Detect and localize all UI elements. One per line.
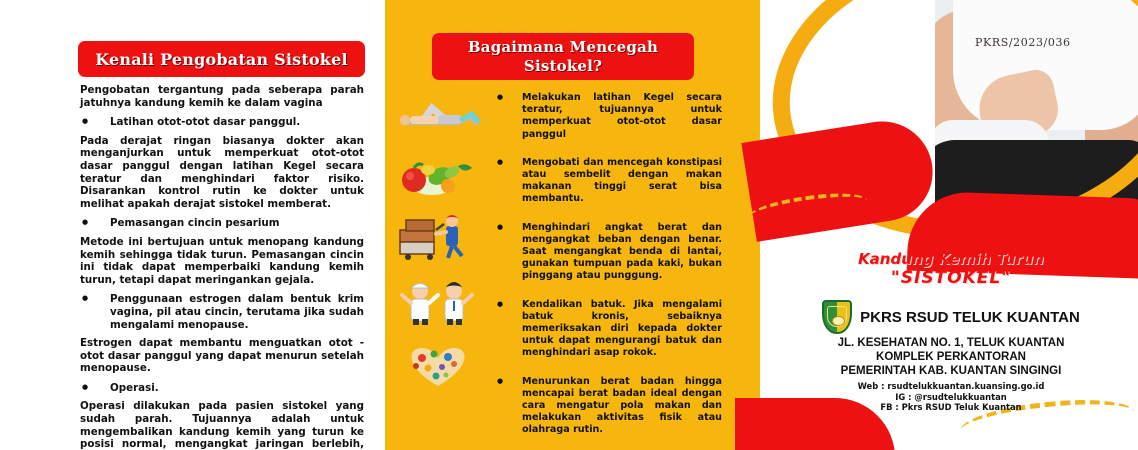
left-item-body-3: Estrogen dapat membantu menguatkan otot … (80, 337, 364, 375)
list-item: Penggunaan estrogen dalam bentuk krim va… (80, 293, 364, 331)
logo-emblem (832, 316, 845, 326)
address-line: PEMERINTAH KAB. KUANTAN SINGINGI (786, 364, 1116, 378)
list-item: Pemasangan cincin pesarium (80, 217, 364, 230)
contact-facebook: FB : Pkrs RSUD Teluk Kuantan (786, 402, 1116, 413)
hospital-logo-icon (822, 300, 852, 334)
address-line: JL. KESEHATAN NO. 1, TELUK KUANTAN (786, 336, 1116, 350)
address-line: KOMPLEK PERKANTORAN (786, 350, 1116, 364)
brochure-page: Kenali Pengobatan Sistokel Pengobatan te… (0, 0, 1138, 450)
cover-title: Kandung Kemih Turun "SISTOKEL" (786, 250, 1116, 288)
organization-row: PKRS RSUD TELUK KUANTAN (786, 300, 1116, 334)
list-item: Operasi. (80, 382, 364, 395)
publication-code: PKRS/2023/036 (975, 36, 1071, 49)
left-item-list-3: Penggunaan estrogen dalam bentuk krim va… (80, 293, 364, 331)
tips-ul: Melakukan latihan Kegel secara teratur, … (497, 92, 722, 437)
left-item-list-1: Latihan otot-otot dasar panggul. (80, 116, 364, 129)
vegetables-icon (392, 150, 484, 200)
list-item: Latihan otot-otot dasar panggul. (80, 116, 364, 129)
cover-title-line-1: Kandung Kemih Turun (858, 250, 1044, 268)
contact-instagram: IG : @rsudtelukkuantan (786, 392, 1116, 403)
healthy-lifestyle-icon (392, 342, 484, 392)
list-item: Kendalikan batuk. Jika mengalami batuk k… (497, 299, 722, 360)
left-intro-text: Pengobatan tergantung pada seberapa para… (80, 84, 364, 109)
organization-name: PKRS RSUD TELUK KUANTAN (860, 309, 1080, 326)
middle-panel-header: Bagaimana Mencegah Sistokel? (432, 33, 694, 80)
list-item: Menurunkan berat badan hingga mencapai b… (497, 376, 722, 437)
left-panel-header: Kenali Pengobatan Sistokel (78, 41, 365, 77)
lifting-boxes-icon (392, 212, 484, 262)
list-item: Melakukan latihan Kegel secara teratur, … (497, 92, 722, 141)
contact-block: Web : rsudtelukkuantan.kuansing.go.id IG… (786, 381, 1116, 413)
left-item-body-2: Metode ini bertujuan untuk menopang kand… (80, 236, 364, 286)
middle-icon-column (392, 92, 484, 404)
left-panel-body: Pengobatan tergantung pada seberapa para… (80, 84, 364, 450)
prevention-tips-list: Melakukan latihan Kegel secara teratur, … (497, 92, 722, 450)
panel-left: Kenali Pengobatan Sistokel Pengobatan te… (0, 0, 385, 450)
middle-header-line-2: Sistokel? (468, 57, 658, 76)
list-item: Menghindari angkat berat dan mengangkat … (497, 222, 722, 283)
middle-header-line-1: Bagaimana Mencegah (468, 38, 658, 57)
left-item-body-4: Operasi dilakukan pada pasien sistokel y… (80, 400, 364, 450)
doctors-icon (392, 277, 484, 327)
left-item-list-4: Operasi. (80, 382, 364, 395)
contact-web: Web : rsudtelukkuantan.kuansing.go.id (786, 381, 1116, 392)
left-item-list-2: Pemasangan cincin pesarium (80, 217, 364, 230)
list-item: Mengobati dan mencegah konstipasi atau s… (497, 157, 722, 206)
address-block: JL. KESEHATAN NO. 1, TELUK KUANTAN KOMPL… (786, 336, 1116, 378)
kegel-exercise-icon (392, 92, 484, 142)
left-item-body-1: Pada derajat ringan biasanya dokter akan… (80, 135, 364, 211)
cover-title-line-2: "SISTOKEL" (786, 269, 1116, 288)
